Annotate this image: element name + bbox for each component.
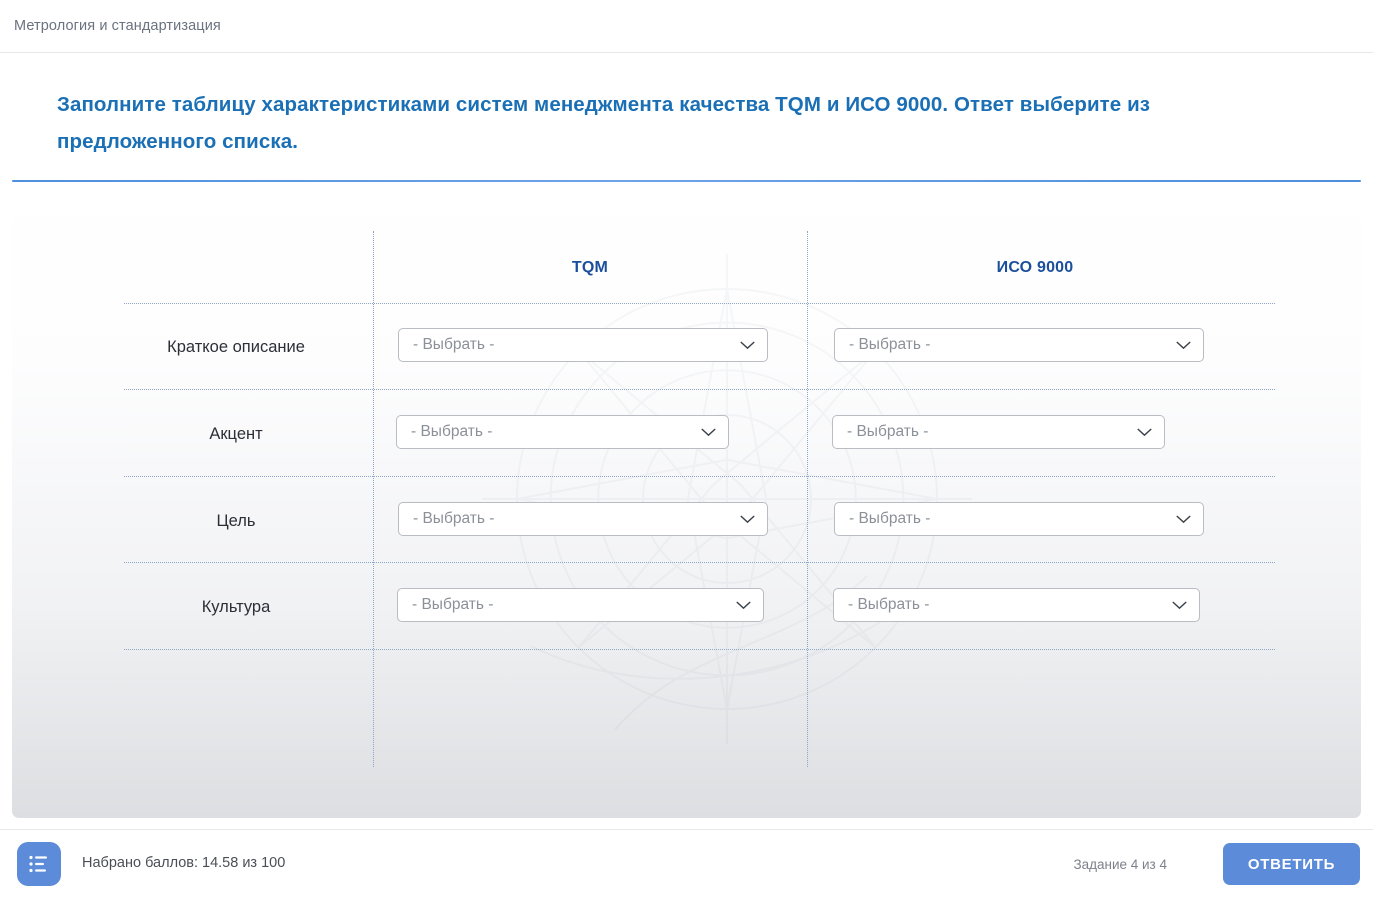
row-divider-1	[124, 389, 1275, 390]
dropdown-row2-col1[interactable]: - Выбрать -	[834, 502, 1204, 536]
dropdown-row0-col0-value: - Выбрать -	[413, 336, 494, 354]
task-counter: Задание 4 из 4	[1073, 857, 1167, 872]
chevron-down-icon	[1137, 428, 1152, 437]
column-divider-2	[807, 231, 808, 767]
dropdown-row3-col0[interactable]: - Выбрать -	[397, 588, 764, 622]
dropdown-row3-col0-value: - Выбрать -	[412, 596, 493, 614]
dropdown-row1-col1-value: - Выбрать -	[847, 423, 928, 441]
dropdown-row0-col0[interactable]: - Выбрать -	[398, 328, 768, 362]
chevron-down-icon	[740, 515, 755, 524]
chevron-down-icon	[1172, 601, 1187, 610]
dropdown-row1-col0[interactable]: - Выбрать -	[396, 415, 729, 449]
column-divider-1	[373, 231, 374, 767]
dropdown-row3-col1[interactable]: - Выбрать -	[833, 588, 1200, 622]
dropdown-row0-col1[interactable]: - Выбрать -	[834, 328, 1204, 362]
row-divider-3	[124, 562, 1275, 563]
column-header-iso9000: ИСО 9000	[807, 259, 1263, 277]
row-divider-2	[124, 476, 1275, 477]
chevron-down-icon	[701, 428, 716, 437]
dropdown-row2-col1-value: - Выбрать -	[849, 510, 930, 528]
score-details-button[interactable]	[17, 842, 61, 886]
dropdown-row0-col1-value: - Выбрать -	[849, 336, 930, 354]
dropdown-row1-col0-value: - Выбрать -	[411, 423, 492, 441]
chevron-down-icon	[1176, 515, 1191, 524]
chevron-down-icon	[1176, 341, 1191, 350]
row-label-3: Культура	[112, 598, 360, 617]
question-divider	[12, 180, 1361, 182]
row-label-1: Акцент	[112, 425, 360, 444]
list-icon	[28, 853, 50, 875]
course-title: Метрология и стандартизация	[14, 18, 221, 34]
top-header-bar: Метрология и стандартизация	[0, 0, 1373, 53]
footer-bar: Набрано баллов: 14.58 из 100 Задание 4 и…	[0, 829, 1373, 899]
answer-button[interactable]: ОТВЕТИТЬ	[1223, 843, 1360, 885]
row-divider-4	[124, 649, 1275, 650]
question-text: Заполните таблицу характеристиками систе…	[57, 86, 1247, 160]
chevron-down-icon	[736, 601, 751, 610]
column-header-tqm: TQM	[373, 259, 807, 277]
dropdown-row3-col1-value: - Выбрать -	[848, 596, 929, 614]
score-text: Набрано баллов: 14.58 из 100	[82, 855, 285, 871]
content-panel: TQM ИСО 9000 Краткое описание - Выбрать …	[12, 186, 1361, 818]
row-label-2: Цель	[112, 512, 360, 531]
dropdown-row2-col0-value: - Выбрать -	[413, 510, 494, 528]
characteristics-table: TQM ИСО 9000 Краткое описание - Выбрать …	[112, 231, 1263, 767]
chevron-down-icon	[740, 341, 755, 350]
row-label-0: Краткое описание	[112, 338, 360, 357]
dropdown-row2-col0[interactable]: - Выбрать -	[398, 502, 768, 536]
row-divider-0	[124, 303, 1275, 304]
dropdown-row1-col1[interactable]: - Выбрать -	[832, 415, 1165, 449]
